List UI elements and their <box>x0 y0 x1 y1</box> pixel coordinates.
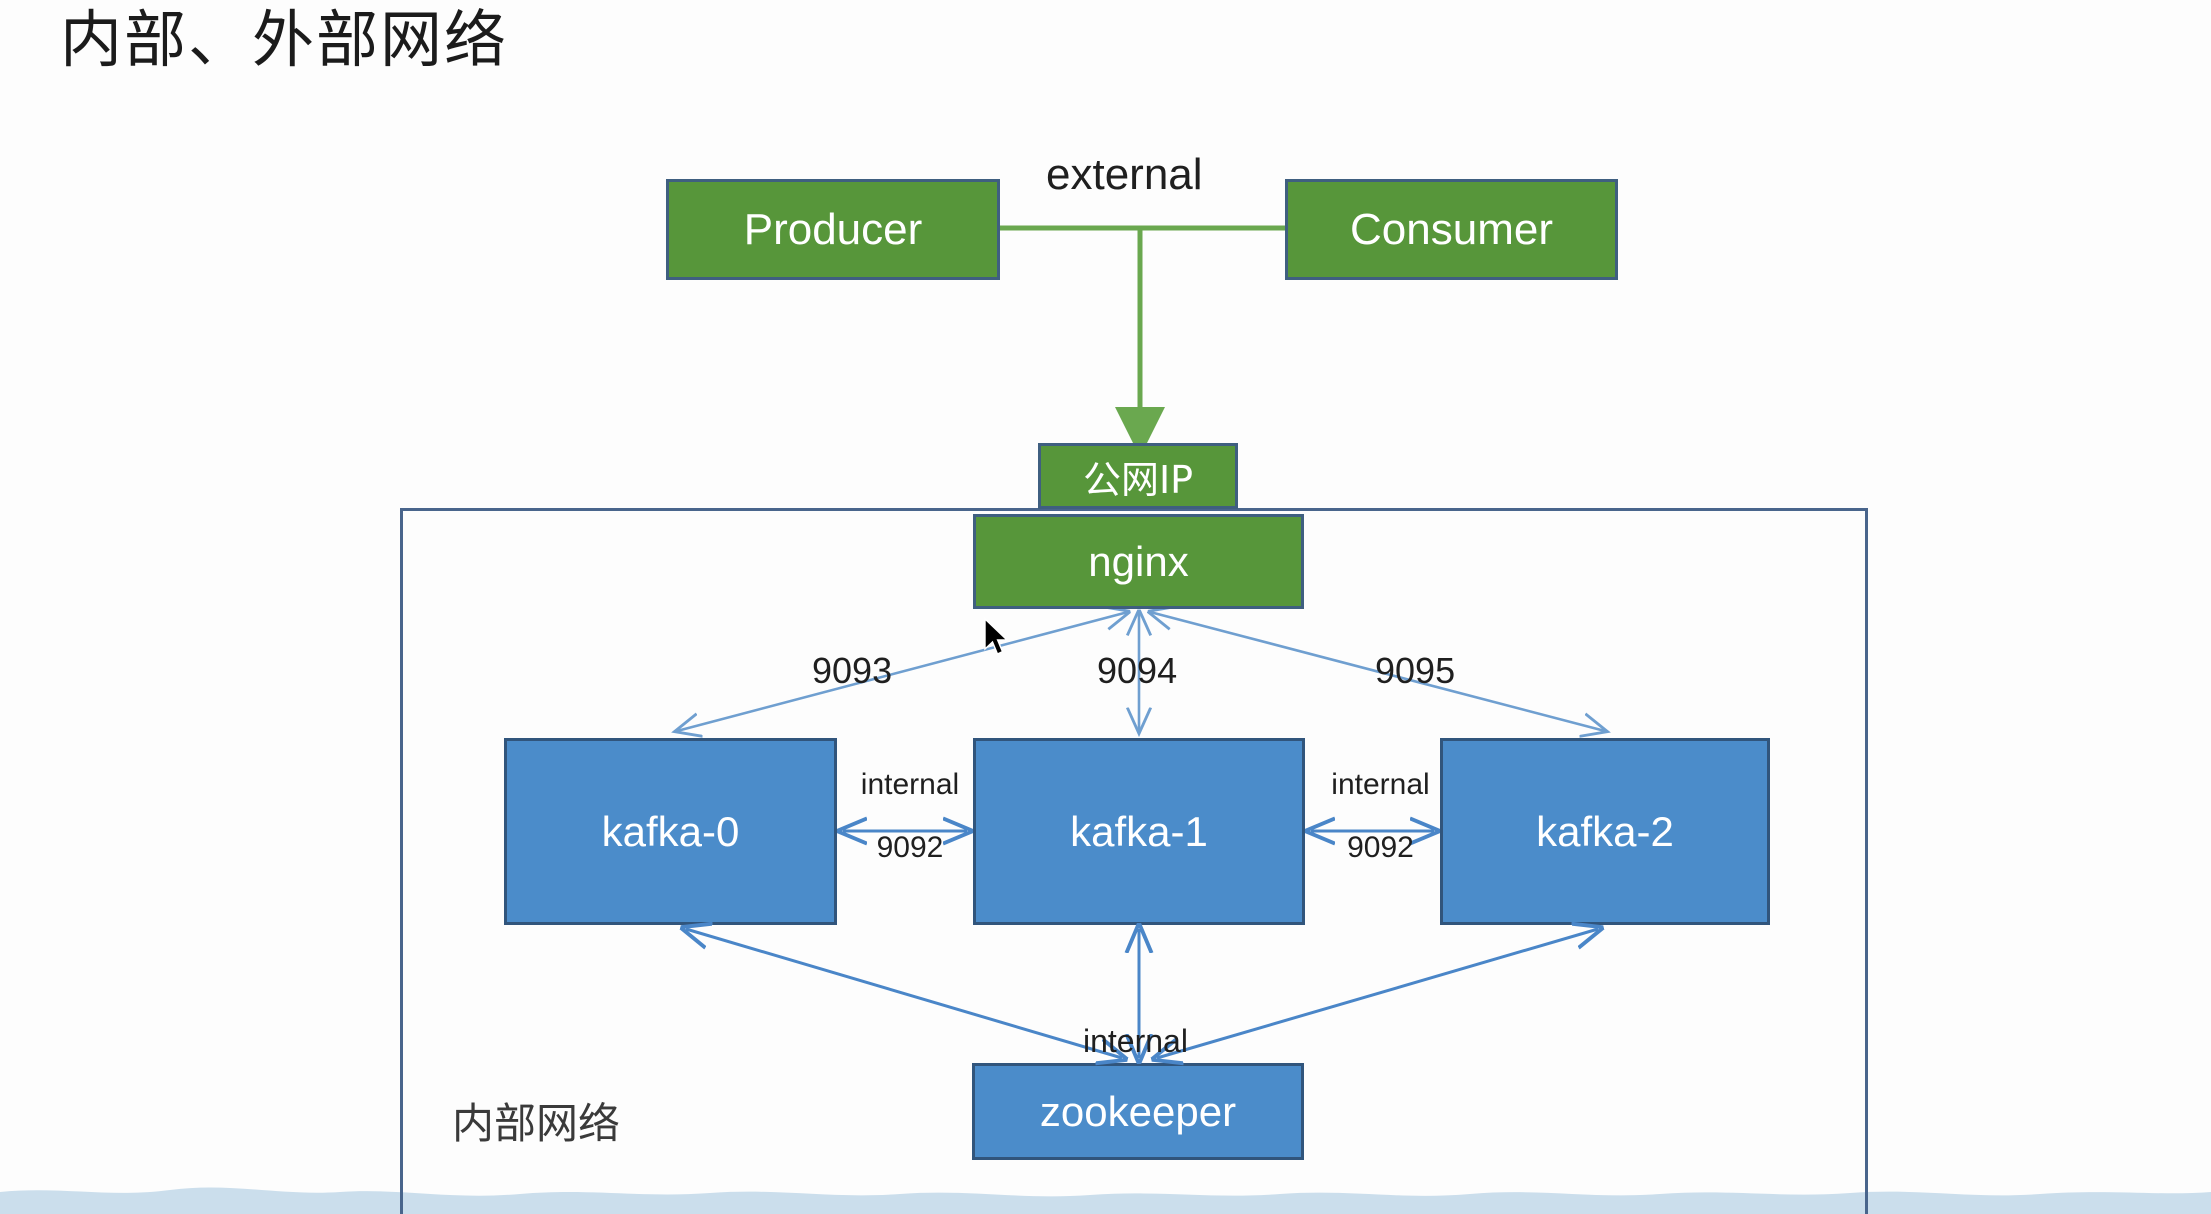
node-consumer-label: Consumer <box>1350 205 1553 255</box>
node-producer[interactable]: Producer <box>666 179 1000 280</box>
edge-label-spacer <box>1318 806 1443 828</box>
node-public-ip[interactable]: 公网IP <box>1038 443 1238 509</box>
edge-label-kafka0-kafka1: internal 9092 <box>845 765 975 868</box>
node-nginx-label: nginx <box>1088 538 1188 586</box>
edge-label-kafka0-kafka1-internal: internal <box>845 765 975 806</box>
edge-label-kafka1-kafka2: internal 9092 <box>1318 765 1443 868</box>
edge-external-bus <box>1000 228 1285 432</box>
edge-label-port-9095: 9095 <box>1375 650 1455 692</box>
node-public-ip-label: 公网IP <box>1083 449 1193 504</box>
page-title: 内部、外部网络 <box>60 6 508 74</box>
edge-label-kafka1-kafka2-port: 9092 <box>1318 828 1443 869</box>
node-nginx[interactable]: nginx <box>973 514 1304 609</box>
edge-label-external: external <box>1046 150 1203 200</box>
edge-label-zookeeper-internal: internal <box>1083 1023 1188 1060</box>
internal-network-container <box>400 508 1868 1214</box>
internal-network-label: 内部网络 <box>452 1090 620 1151</box>
slide-canvas: 内部、外部网络 内部网络 <box>0 0 2211 1214</box>
edge-label-kafka1-kafka2-internal: internal <box>1318 765 1443 806</box>
edge-label-kafka0-kafka1-port: 9092 <box>845 828 975 869</box>
edge-label-port-9094: 9094 <box>1097 650 1177 692</box>
edge-label-spacer <box>845 806 975 828</box>
edge-label-port-9093: 9093 <box>812 650 892 692</box>
node-consumer[interactable]: Consumer <box>1285 179 1618 280</box>
node-producer-label: Producer <box>744 205 923 255</box>
